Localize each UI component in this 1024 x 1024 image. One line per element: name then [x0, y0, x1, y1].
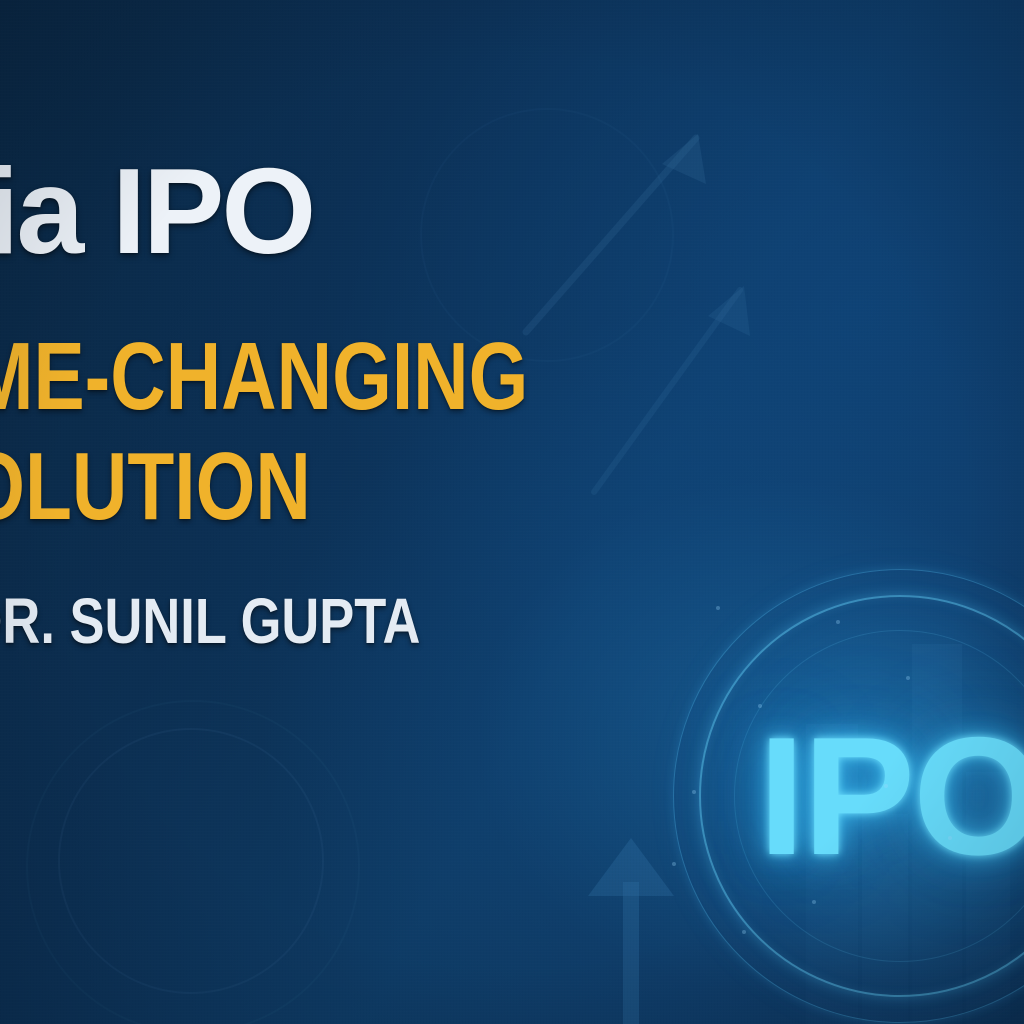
sparkle-dot [906, 676, 910, 680]
sparkle-dot [716, 606, 720, 610]
subhead-line-1: AME-CHANGING [0, 326, 554, 428]
concentric-ring-icon [26, 700, 360, 1024]
sparkle-dot [758, 704, 762, 708]
concentric-ring-icon [58, 728, 324, 994]
sparkle-dot [692, 790, 696, 794]
byline: A DR. SUNIL GUPTA [0, 584, 570, 658]
sparkle-dot [672, 862, 676, 866]
subhead-line-2: VOLUTION [0, 436, 554, 538]
headline-block: dia IPO AME-CHANGING VOLUTION A DR. SUNI… [0, 150, 714, 658]
page-title: dia IPO [0, 150, 714, 272]
sparkle-dot [884, 784, 888, 788]
sparkle-dot [742, 930, 746, 934]
sparkle-dot [812, 900, 816, 904]
sparkle-dot [836, 620, 840, 624]
ipo-glow-badge: IPO [660, 556, 1024, 1024]
sparkle-dot [948, 836, 952, 840]
badge-label: IPO [660, 556, 1024, 1024]
banner-canvas: IPO dia IPO AME-CHANGING VOLUTION A DR. … [0, 0, 1024, 1024]
